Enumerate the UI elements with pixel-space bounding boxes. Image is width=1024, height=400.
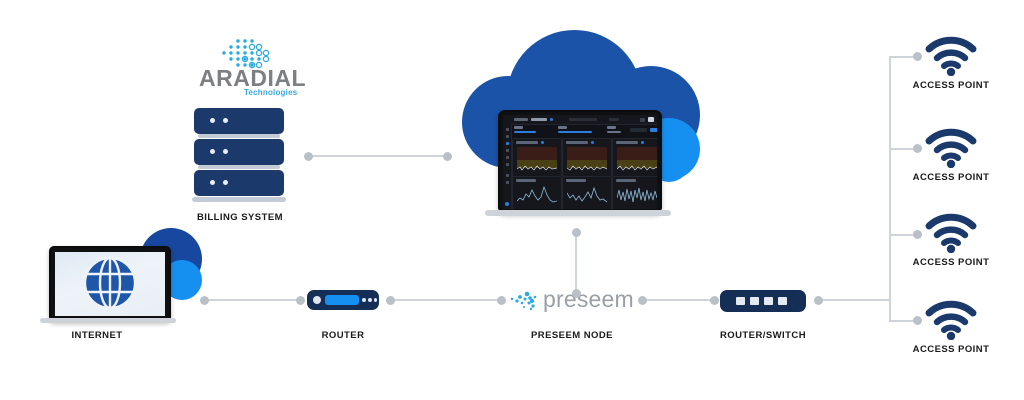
node-internet[interactable] xyxy=(40,228,205,328)
wire-endpoint-dot xyxy=(386,296,395,305)
wire-endpoint-dot xyxy=(572,289,581,298)
node-router[interactable] xyxy=(307,290,379,310)
aradial-tagline: Technologies xyxy=(244,88,297,97)
node-access-point-3[interactable] xyxy=(923,211,979,253)
wifi-icon xyxy=(923,298,979,340)
label-preseem-node: PRESEEM NODE xyxy=(512,330,632,341)
label-internet: INTERNET xyxy=(37,330,157,341)
wire-endpoint-dot xyxy=(296,296,305,305)
wire-endpoint-dot xyxy=(913,144,922,153)
label-access-point-4: ACCESS POINT xyxy=(891,344,1011,355)
node-access-point-1[interactable] xyxy=(923,34,979,76)
node-cloud-dashboard[interactable] xyxy=(452,28,702,218)
wire-endpoint-dot xyxy=(497,296,506,305)
wire-endpoint-dot xyxy=(913,316,922,325)
wire-cloud-to-preseem xyxy=(575,232,577,292)
server-unit xyxy=(194,170,284,196)
chart-panel xyxy=(612,138,657,177)
wire-endpoint-dot xyxy=(638,296,647,305)
chart-panel xyxy=(562,138,612,177)
dashboard-laptop-icon xyxy=(498,110,662,214)
chart-panel xyxy=(512,138,562,177)
network-diagram: INTERNET ARADIAL Technologies xyxy=(0,0,1024,400)
label-access-point-2: ACCESS POINT xyxy=(891,172,1011,183)
preseem-wordmark: preseem xyxy=(543,286,634,313)
switch-icon xyxy=(720,290,806,312)
wire-billing-to-cloud xyxy=(308,155,448,157)
wire-endpoint-dot xyxy=(814,296,823,305)
label-access-point-1: ACCESS POINT xyxy=(891,80,1011,91)
wire-endpoint-dot xyxy=(710,296,719,305)
wire-internet-to-router xyxy=(204,299,300,301)
chart-panel xyxy=(562,176,612,209)
node-access-point-4[interactable] xyxy=(923,298,979,340)
wifi-icon xyxy=(923,34,979,76)
dashboard-screen xyxy=(503,115,657,209)
dashboard-sidebar xyxy=(503,124,512,209)
wire-endpoint-dot xyxy=(572,228,581,237)
dashboard-subheader xyxy=(512,125,656,137)
wire-router-to-preseem xyxy=(390,299,500,301)
wifi-icon xyxy=(923,211,979,253)
label-router: ROUTER xyxy=(283,330,403,341)
router-icon xyxy=(307,290,379,310)
wire-endpoint-dot xyxy=(443,152,452,161)
node-access-point-2[interactable] xyxy=(923,126,979,168)
wire-ap-bus-trunk xyxy=(889,56,891,320)
label-access-point-3: ACCESS POINT xyxy=(891,257,1011,268)
wire-endpoint-dot xyxy=(913,230,922,239)
internet-laptop-icon xyxy=(49,246,171,322)
aradial-logo: ARADIAL Technologies xyxy=(196,38,296,94)
node-preseem[interactable]: preseem xyxy=(510,288,630,314)
internet-laptop-base xyxy=(40,318,176,323)
wire-preseem-to-switch xyxy=(642,299,714,301)
label-router-switch: ROUTER/SWITCH xyxy=(703,330,823,341)
wire-endpoint-dot xyxy=(304,152,313,161)
preseem-logo-mark-icon xyxy=(510,289,544,315)
globe-icon xyxy=(55,252,165,316)
chart-panel xyxy=(612,176,657,209)
label-billing-system: BILLING SYSTEM xyxy=(180,212,300,223)
dashboard-laptop-base xyxy=(485,210,671,216)
dashboard-topbar xyxy=(503,115,657,125)
dashboard-panel-grid xyxy=(512,125,656,209)
server-unit xyxy=(194,108,284,134)
node-billing-system[interactable] xyxy=(192,108,288,204)
wire-switch-to-bus xyxy=(818,299,890,301)
laptop-screen xyxy=(55,252,165,316)
chart-panel xyxy=(512,176,562,209)
wire-endpoint-dot xyxy=(913,52,922,61)
node-router-switch[interactable] xyxy=(720,290,806,312)
server-unit xyxy=(194,139,284,165)
wifi-icon xyxy=(923,126,979,168)
wire-endpoint-dot xyxy=(200,296,209,305)
